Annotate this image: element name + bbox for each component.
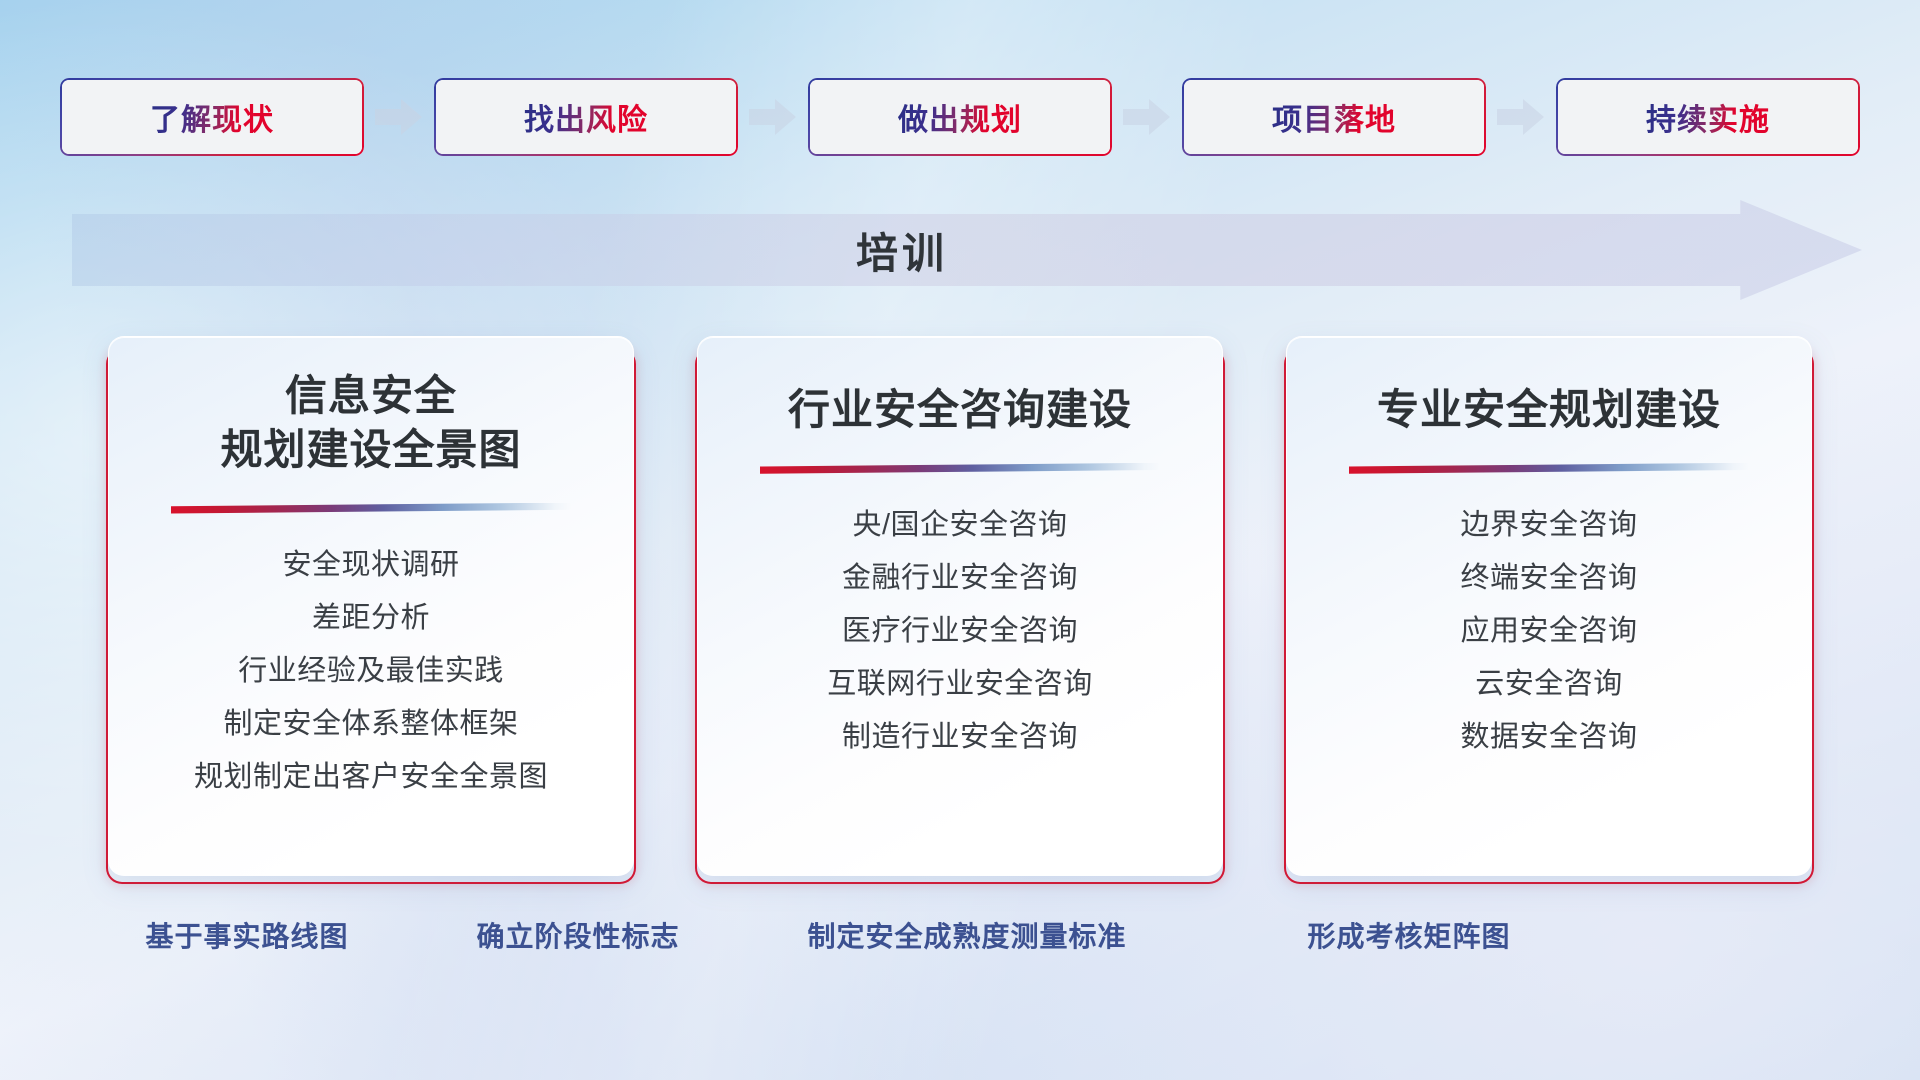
step-label-2: 找出风险 [524, 95, 648, 139]
step-label-4: 项目落地 [1272, 95, 1396, 139]
feature-card-row: 信息安全 规划建设全景图 安全现状调研 差距分析 行业经验及最佳实践 制定安全体… [0, 336, 1920, 876]
feature-card-1-title: 信息安全 规划建设全景图 [109, 369, 633, 477]
divider-gradient-bar [760, 463, 1160, 474]
feature-card-1-divider [171, 503, 571, 516]
feature-card-2-title: 行业安全咨询建设 [698, 383, 1222, 437]
step-inner-3: 做出规划 [810, 80, 1110, 154]
arrow-right-icon [1123, 97, 1171, 137]
step-inner-2: 找出风险 [436, 80, 736, 154]
step-inner-4: 项目落地 [1184, 80, 1484, 154]
training-banner: 培训 [72, 200, 1862, 300]
list-item: 制定安全体系整体框架 [223, 705, 518, 744]
divider-gradient-bar [171, 503, 571, 514]
step-box-1[interactable]: 了解现状 [60, 78, 364, 156]
list-item: 互联网行业安全咨询 [827, 665, 1093, 704]
feature-card-1-list: 安全现状调研 差距分析 行业经验及最佳实践 制定安全体系整体框架 规划制定出客户… [109, 546, 633, 798]
feature-card-2-title-line-1: 行业安全咨询建设 [698, 383, 1222, 437]
divider-gradient-bar [1349, 463, 1749, 474]
list-item: 边界安全咨询 [1460, 506, 1637, 545]
feature-card-3-divider [1349, 463, 1749, 476]
caption-2: 确立阶段性标志 [476, 915, 679, 955]
feature-card-3[interactable]: 专业安全规划建设 边界安全咨询 终端安全咨询 应用安全咨询 云安全咨询 数据安全… [1286, 336, 1812, 876]
list-item: 制造行业安全咨询 [842, 718, 1078, 757]
feature-card-2-divider [760, 463, 1160, 476]
step-box-5[interactable]: 持续实施 [1556, 78, 1860, 156]
arrow-right-icon [375, 97, 423, 137]
feature-card-3-face: 专业安全规划建设 边界安全咨询 终端安全咨询 应用安全咨询 云安全咨询 数据安全… [1286, 336, 1812, 876]
feature-card-1-title-line-1: 信息安全 [109, 369, 633, 423]
step-label-1: 了解现状 [150, 95, 274, 139]
arrow-right-icon [749, 97, 797, 137]
caption-3: 制定安全成熟度测量标准 [807, 915, 1126, 955]
list-item: 央/国企安全咨询 [852, 506, 1067, 545]
arrow-right-icon [1497, 97, 1545, 137]
feature-card-3-list: 边界安全咨询 终端安全咨询 应用安全咨询 云安全咨询 数据安全咨询 [1287, 506, 1811, 758]
feature-card-2-face: 行业安全咨询建设 央/国企安全咨询 金融行业安全咨询 医疗行业安全咨询 互联网行… [697, 336, 1223, 876]
step-box-4[interactable]: 项目落地 [1182, 78, 1486, 156]
caption-row: 基于事实路线图 确立阶段性标志 制定安全成熟度测量标准 形成考核矩阵图 [0, 915, 1920, 961]
list-item: 云安全咨询 [1475, 665, 1623, 704]
step-box-2[interactable]: 找出风险 [434, 78, 738, 156]
process-step-row: 了解现状 找出风险 做出规划 项目落地 [0, 78, 1920, 156]
slide-root: 了解现状 找出风险 做出规划 项目落地 [0, 0, 1920, 1080]
list-item: 安全现状调研 [282, 546, 459, 585]
feature-card-1-face: 信息安全 规划建设全景图 安全现状调研 差距分析 行业经验及最佳实践 制定安全体… [108, 336, 634, 876]
feature-card-1-title-line-2: 规划建设全景图 [109, 423, 633, 477]
list-item: 行业经验及最佳实践 [238, 652, 504, 691]
list-item: 差距分析 [312, 599, 430, 638]
feature-card-1[interactable]: 信息安全 规划建设全景图 安全现状调研 差距分析 行业经验及最佳实践 制定安全体… [108, 336, 634, 876]
caption-4: 形成考核矩阵图 [1307, 915, 1510, 955]
caption-1: 基于事实路线图 [145, 915, 348, 955]
list-item: 终端安全咨询 [1460, 559, 1637, 598]
feature-card-2-list: 央/国企安全咨询 金融行业安全咨询 医疗行业安全咨询 互联网行业安全咨询 制造行… [698, 506, 1222, 758]
list-item: 金融行业安全咨询 [842, 559, 1078, 598]
list-item: 医疗行业安全咨询 [842, 612, 1078, 651]
banner-label: 培训 [72, 200, 1732, 300]
feature-card-3-title-line-1: 专业安全规划建设 [1287, 383, 1811, 437]
feature-card-2[interactable]: 行业安全咨询建设 央/国企安全咨询 金融行业安全咨询 医疗行业安全咨询 互联网行… [697, 336, 1223, 876]
list-item: 应用安全咨询 [1460, 612, 1637, 651]
step-box-3[interactable]: 做出规划 [808, 78, 1112, 156]
step-label-5: 持续实施 [1646, 95, 1770, 139]
step-inner-1: 了解现状 [62, 80, 362, 154]
list-item: 规划制定出客户安全全景图 [194, 758, 548, 797]
list-item: 数据安全咨询 [1460, 718, 1637, 757]
step-label-3: 做出规划 [898, 95, 1022, 139]
feature-card-3-title: 专业安全规划建设 [1287, 383, 1811, 437]
step-inner-5: 持续实施 [1558, 80, 1858, 154]
